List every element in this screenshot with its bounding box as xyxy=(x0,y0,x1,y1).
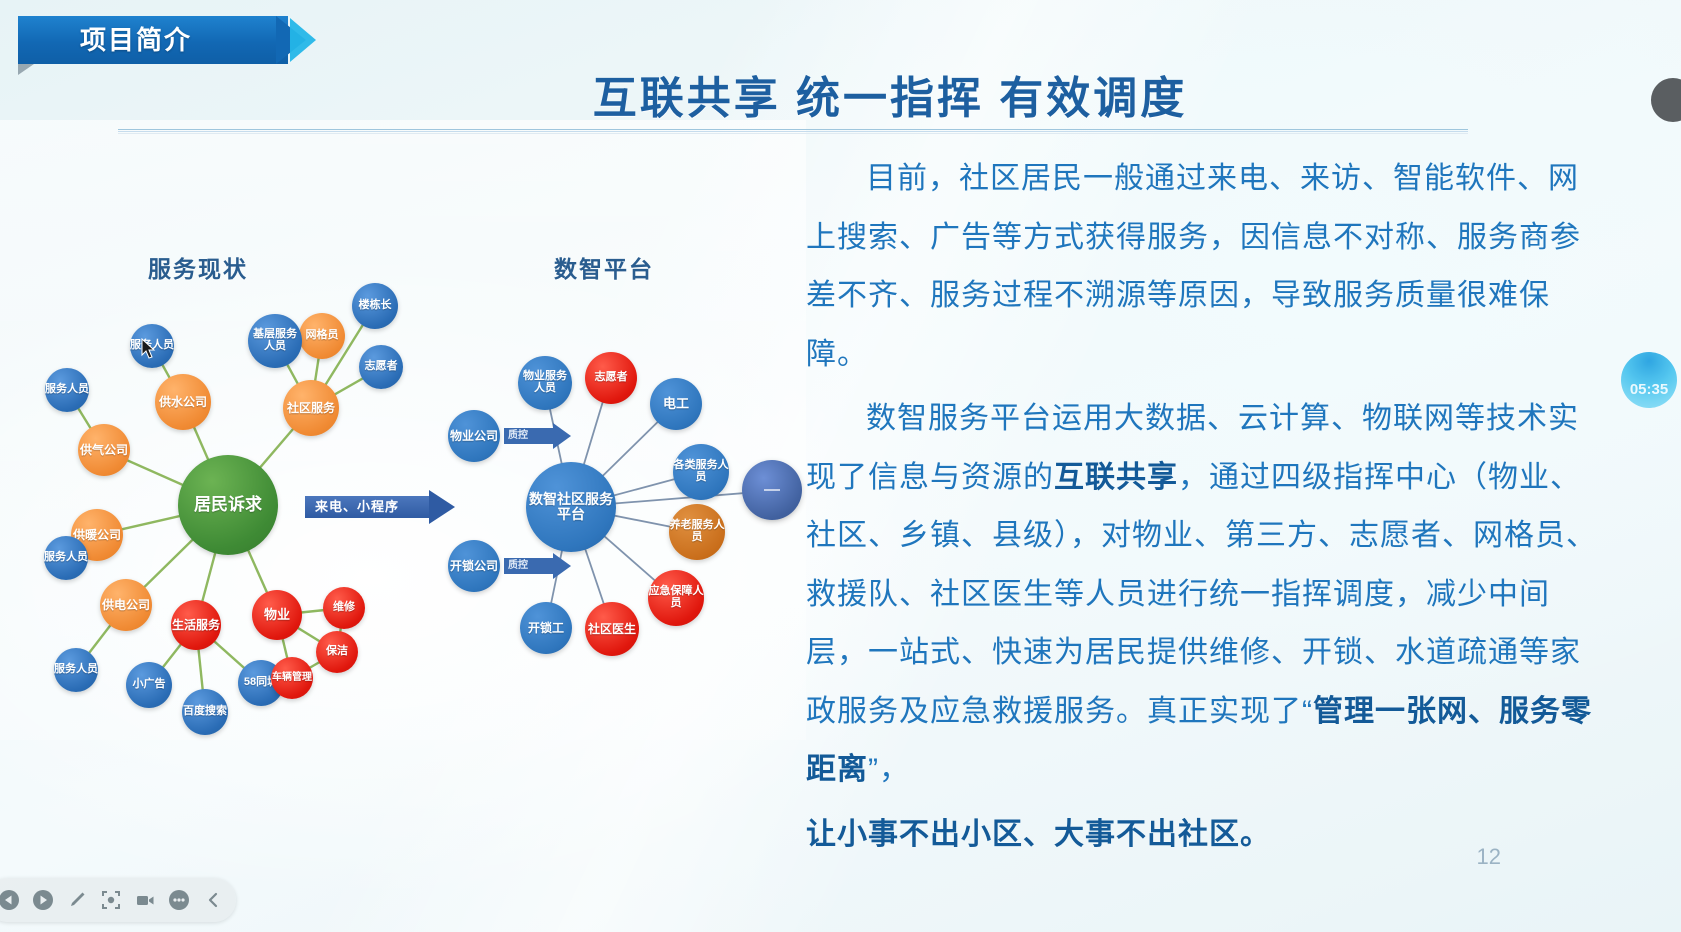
ribbon-tail xyxy=(18,64,34,75)
slide-title: 互联共享 统一指挥 有效调度 xyxy=(360,62,1420,126)
node-grassroots-staff[interactable]: 基层服务人员 xyxy=(248,314,302,368)
node-volunteer-right[interactable]: 志愿者 xyxy=(585,352,637,404)
node-smart-community-platform[interactable]: 数智社区服务平台 xyxy=(526,462,616,552)
timer-badge[interactable]: 05:35 xyxy=(1621,352,1677,408)
node-property[interactable]: 物业 xyxy=(252,590,302,640)
node-repair[interactable]: 维修 xyxy=(323,587,365,629)
body-text-column: 目前，社区居民一般通过来电、来访、智能软件、网上搜索、广告等方式获得服务，因信息… xyxy=(806,150,1606,870)
node-resident-demand[interactable]: 居民诉求 xyxy=(178,455,278,555)
node-service-staff-4[interactable]: 服务人员 xyxy=(54,648,98,692)
node-life-service[interactable]: 生活服务 xyxy=(171,600,221,650)
node-vehicle-management[interactable]: 车辆管理 xyxy=(271,657,313,699)
decorative-blue-dot xyxy=(742,460,802,520)
previous-icon[interactable] xyxy=(0,885,24,915)
paragraph-1: 目前，社区居民一般通过来电、来访、智能软件、网上搜索、广告等方式获得服务，因信息… xyxy=(806,150,1606,384)
node-locksmith[interactable]: 开锁工 xyxy=(520,602,572,654)
video-camera-icon[interactable] xyxy=(130,885,160,915)
node-property-company[interactable]: 物业公司 xyxy=(448,410,500,462)
node-building-head[interactable]: 楼栋长 xyxy=(352,283,398,329)
screenshot-icon[interactable] xyxy=(96,885,126,915)
section-ribbon: 项目简介 xyxy=(18,16,318,64)
node-elderly-care-staff[interactable]: 养老服务人员 xyxy=(669,504,725,560)
node-grid-member[interactable]: 网格员 xyxy=(299,313,345,359)
node-service-staff-3[interactable]: 服务人员 xyxy=(44,536,88,580)
quality-arrow-2-label: 质控 xyxy=(508,558,528,574)
node-community-doctor[interactable]: 社区医生 xyxy=(585,602,639,656)
ribbon-chevron-cyan xyxy=(290,18,316,62)
ribbon-label: 项目简介 xyxy=(80,16,192,64)
node-power-company[interactable]: 供电公司 xyxy=(100,579,152,631)
diagram-heading-right: 数智平台 xyxy=(554,250,654,284)
node-various-service-staff[interactable]: 各类服务人员 xyxy=(673,444,729,500)
node-property-service-staff[interactable]: 物业服务人员 xyxy=(518,356,572,410)
transition-arrow-label: 来电、小程序 xyxy=(315,496,399,518)
quality-arrow-1: 质控 xyxy=(504,423,570,449)
media-toolbar[interactable] xyxy=(0,878,236,922)
para2-part-c: ”， xyxy=(868,753,910,786)
diagram-heading-left: 服务现状 xyxy=(148,250,248,284)
node-unlock-company[interactable]: 开锁公司 xyxy=(448,540,500,592)
slide-canvas: 项目简介 互联共享 统一指挥 有效调度 xyxy=(0,0,1681,932)
corner-dark-dot[interactable] xyxy=(1651,78,1681,122)
node-water-company[interactable]: 供水公司 xyxy=(155,374,211,430)
node-cleaning[interactable]: 保洁 xyxy=(316,631,358,673)
node-volunteer[interactable]: 志愿者 xyxy=(359,345,403,389)
para2-part-b: ，通过四级指挥中心（物业、社区、乡镇、县级），对物业、第三方、志愿者、网格员、救… xyxy=(806,461,1597,728)
node-service-staff-2[interactable]: 服务人员 xyxy=(45,368,89,412)
node-small-ads[interactable]: 小广告 xyxy=(126,662,172,708)
node-baidu-search[interactable]: 百度搜索 xyxy=(182,689,228,735)
quality-arrow-2: 质控 xyxy=(504,553,570,579)
paragraph-2: 数智服务平台运用大数据、云计算、物联网等技术实现了信息与资源的互联共享，通过四级… xyxy=(806,390,1606,800)
network-diagram: 服务现状 数智平台 居民诉求 供水公司 供气公司 供暖公司 供电公司 社区服务 … xyxy=(0,150,806,750)
mouse-cursor xyxy=(141,338,157,360)
collapse-icon[interactable] xyxy=(198,885,228,915)
pencil-icon[interactable] xyxy=(62,885,92,915)
node-emergency-staff[interactable]: 应急保障人员 xyxy=(648,570,704,626)
para2-bold-interconnect: 互联共享 xyxy=(1054,461,1178,494)
node-community-service[interactable]: 社区服务 xyxy=(283,380,339,436)
more-options-icon[interactable] xyxy=(164,885,194,915)
transition-arrow: 来电、小程序 xyxy=(305,490,455,524)
node-electrician[interactable]: 电工 xyxy=(650,378,702,430)
quality-arrow-1-label: 质控 xyxy=(508,428,528,444)
node-gas-company[interactable]: 供气公司 xyxy=(78,424,130,476)
page-number: 12 xyxy=(1477,844,1501,870)
title-underline xyxy=(118,129,1468,133)
play-icon[interactable] xyxy=(28,885,58,915)
